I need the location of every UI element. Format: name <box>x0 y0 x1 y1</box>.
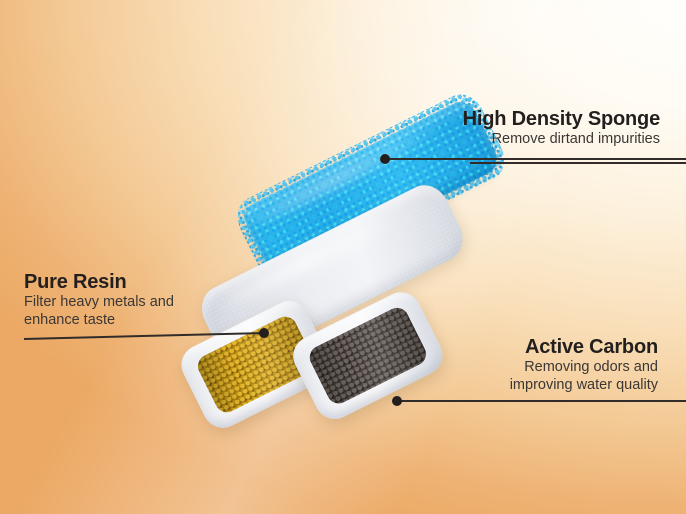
callout-title-carbon: Active Carbon <box>510 336 658 358</box>
infographic-canvas: High Density Sponge Remove dirtand impur… <box>0 0 686 514</box>
callout-active-carbon: Active Carbon Removing odors and improvi… <box>510 336 658 395</box>
callout-desc-resin-line2: enhance taste <box>24 311 174 329</box>
callout-desc-carbon-line2: improving water quality <box>510 376 658 394</box>
carbon-granule-shading <box>306 304 430 408</box>
callout-high-density-sponge: High Density Sponge Remove dirtand impur… <box>463 108 660 148</box>
callout-title-sponge: High Density Sponge <box>463 108 660 130</box>
callout-title-resin: Pure Resin <box>24 271 174 293</box>
active-carbon-tray <box>286 285 449 425</box>
callout-pure-resin: Pure Resin Filter heavy metals and enhan… <box>24 271 174 330</box>
callout-desc-sponge: Remove dirtand impurities <box>463 130 660 148</box>
callout-desc-carbon-line1: Removing odors and <box>510 358 658 376</box>
carbon-well <box>306 304 430 408</box>
callout-desc-resin-line1: Filter heavy metals and <box>24 293 174 311</box>
